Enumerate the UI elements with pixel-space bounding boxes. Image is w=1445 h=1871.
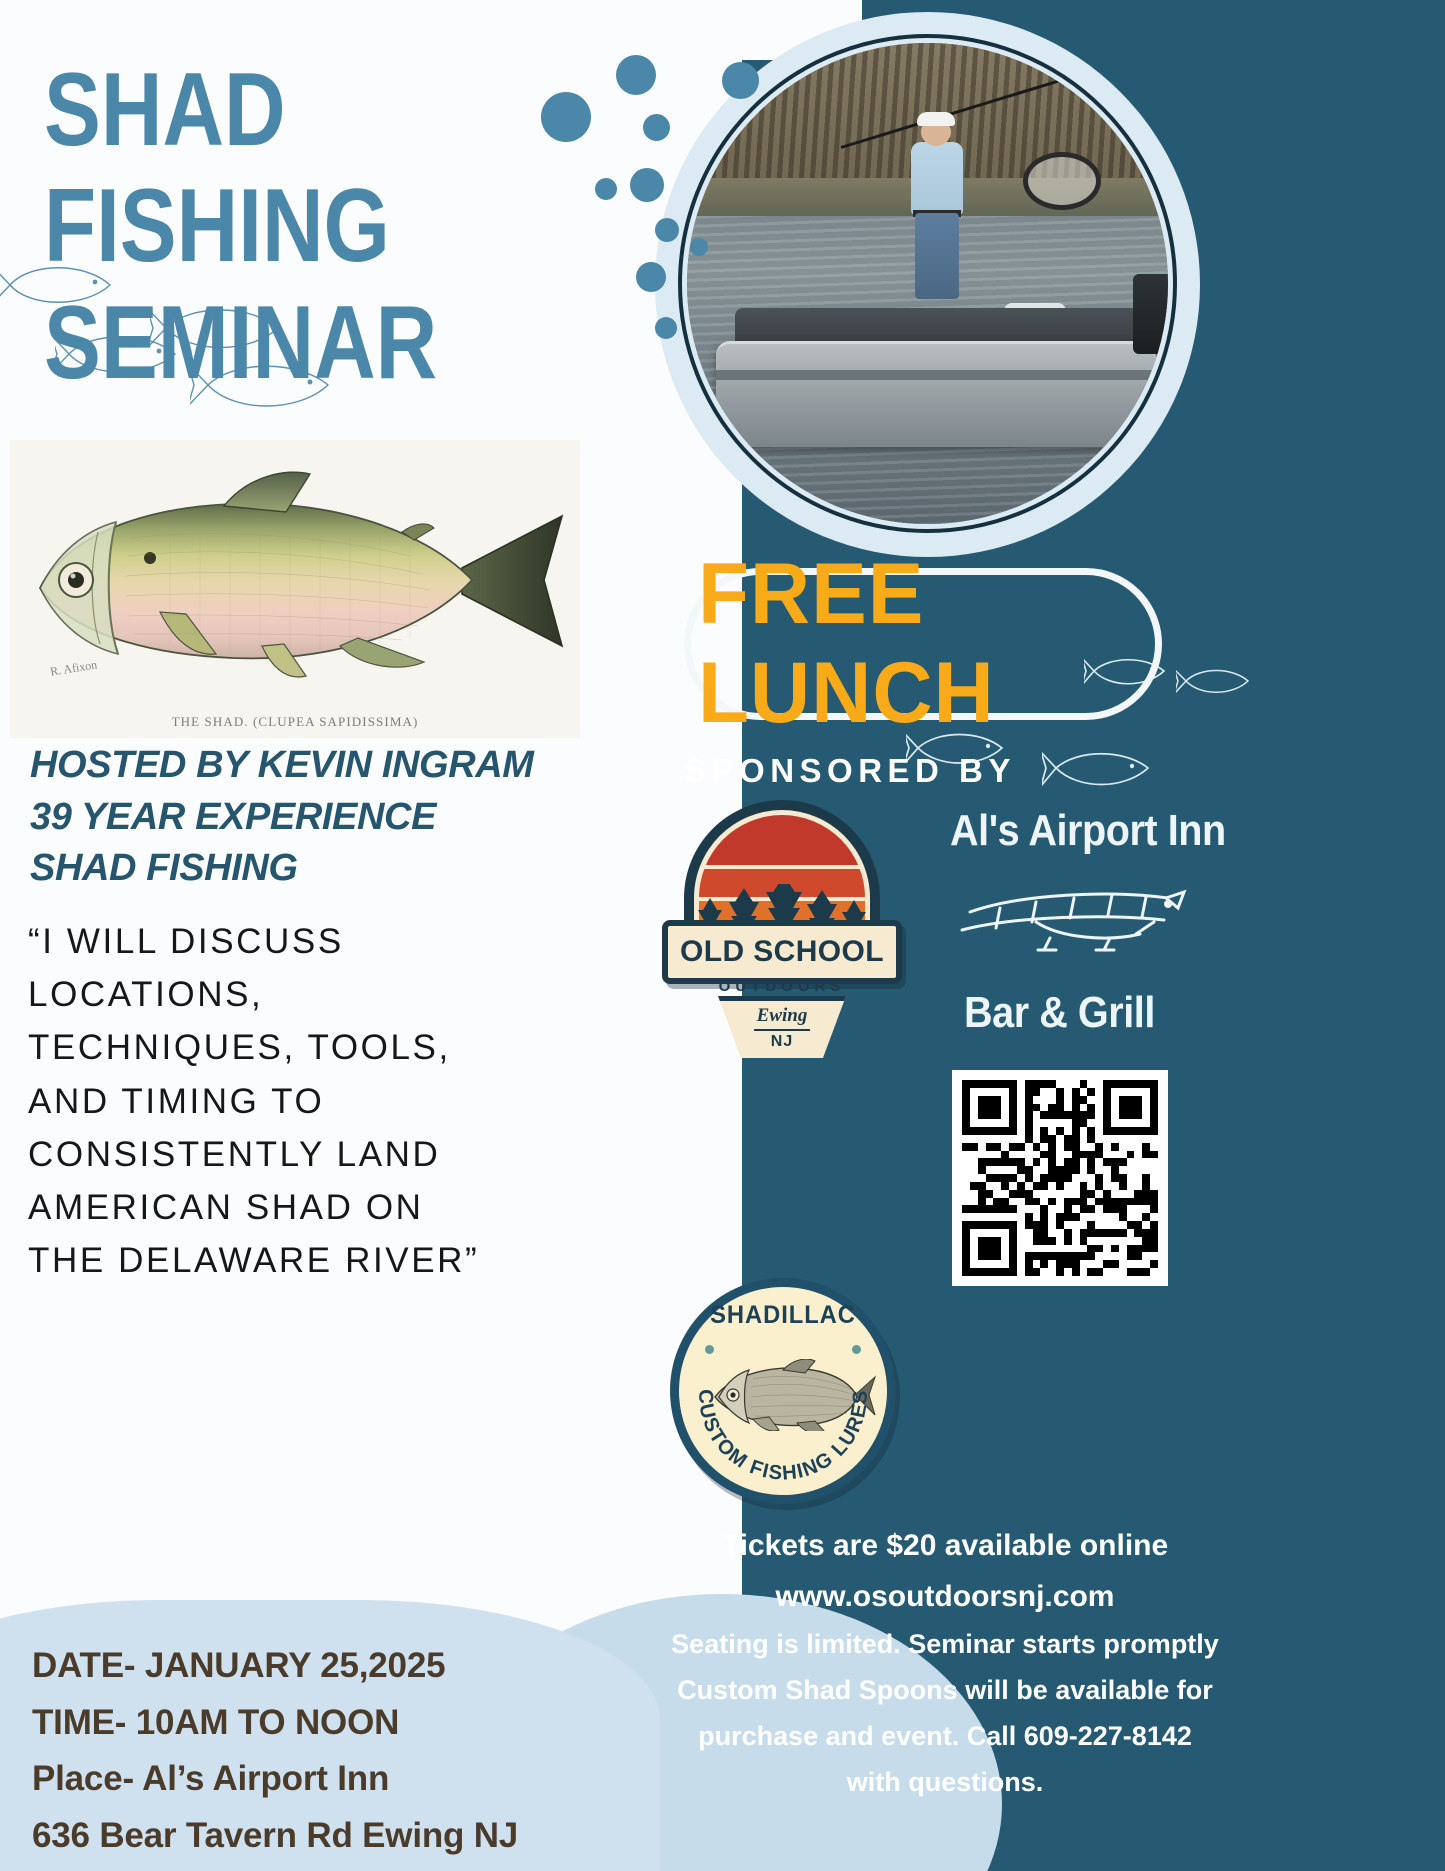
old-school-city: Ewing bbox=[718, 1005, 846, 1027]
footer-line-3: Seating is limited. Seminar starts promp… bbox=[650, 1622, 1240, 1668]
qr-code[interactable] bbox=[952, 1070, 1168, 1286]
footer-tickets: Tickets are $20 available online bbox=[650, 1520, 1240, 1571]
event-date: DATE- JANUARY 25,2025 bbox=[32, 1638, 692, 1695]
old-school-nameplate: OLD SCHOOL bbox=[662, 920, 902, 984]
quote-line: LOCATIONS, bbox=[28, 968, 668, 1021]
decorative-dot bbox=[541, 92, 591, 142]
decorative-dot bbox=[636, 262, 666, 292]
quote-line: AND TIMING TO bbox=[28, 1075, 668, 1128]
event-time: TIME- 10AM TO NOON bbox=[32, 1695, 692, 1752]
host-line-2: 39 YEAR EXPERIENCE bbox=[30, 792, 690, 844]
footer-line-4: Custom Shad Spoons will be available for bbox=[650, 1668, 1240, 1714]
svg-text:CUSTOM FISHING LURES: CUSTOM FISHING LURES bbox=[694, 1389, 872, 1485]
angler-cap bbox=[917, 112, 955, 126]
old-school-name: OLD SCHOOL bbox=[680, 935, 884, 969]
event-place: Place- Al’s Airport Inn bbox=[32, 1751, 692, 1808]
footer-text: Tickets are $20 available online www.oso… bbox=[650, 1520, 1240, 1806]
decorative-dot bbox=[655, 218, 679, 242]
free-lunch-label: FREE LUNCH bbox=[698, 575, 1148, 713]
host-line-1: HOSTED BY KEVIN INGRAM bbox=[30, 740, 690, 792]
shad-fish-illustration bbox=[10, 440, 580, 738]
sponsor-logo-old-school-outdoors: OLD SCHOOL OUTDOORS Ewing NJ bbox=[662, 800, 902, 1058]
event-details: DATE- JANUARY 25,2025 TIME- 10AM TO NOON… bbox=[32, 1638, 692, 1865]
sponsor-logo-shadillac: SHADILLAC CUSTOM FISHI bbox=[670, 1278, 896, 1504]
title-line-1: SHAD bbox=[44, 52, 569, 168]
poster-root: SHAD FISHING SEMINAR bbox=[0, 0, 1445, 1871]
free-lunch-badge: FREE LUNCH bbox=[684, 568, 1162, 720]
decorative-dot bbox=[616, 55, 656, 95]
quote-line: TECHNIQUES, TOOLS, bbox=[28, 1021, 668, 1074]
host-info: HOSTED BY KEVIN INGRAM 39 YEAR EXPERIENC… bbox=[30, 740, 690, 895]
quote-line: THE DELAWARE RIVER” bbox=[28, 1234, 668, 1287]
boat-hull bbox=[716, 341, 1159, 447]
sponsor-logo-als-airport-inn: Al's Airport Inn Bar & Grill bbox=[950, 806, 1200, 856]
speaker-quote: “I WILL DISCUSS LOCATIONS, TECHNIQUES, T… bbox=[28, 915, 668, 1287]
decorative-dot bbox=[655, 317, 677, 339]
quote-line: “I WILL DISCUSS bbox=[28, 915, 668, 968]
line-fish-icon bbox=[1176, 660, 1256, 702]
decorative-dot bbox=[690, 238, 708, 256]
boat-stripe bbox=[716, 370, 1159, 380]
footer-line-6: with questions. bbox=[650, 1760, 1240, 1806]
decorative-dot bbox=[595, 178, 617, 200]
quote-line: AMERICAN SHAD ON bbox=[28, 1181, 668, 1234]
old-school-subtitle: OUTDOORS bbox=[662, 978, 902, 995]
quote-line: CONSISTENTLY LAND bbox=[28, 1128, 668, 1181]
photo-image bbox=[687, 43, 1168, 524]
outboard-motor-icon bbox=[1133, 274, 1168, 354]
page-title: SHAD FISHING SEMINAR bbox=[44, 52, 569, 401]
event-address: 636 Bear Tavern Rd Ewing NJ bbox=[32, 1808, 692, 1865]
shad-illustration-plate: R. Afixon THE SHAD. (CLUPEA SAPIDISSIMA) bbox=[10, 440, 580, 738]
host-line-3: SHAD FISHING bbox=[30, 843, 690, 895]
angler-shirt bbox=[911, 142, 963, 216]
title-line-2: FISHING bbox=[44, 168, 569, 284]
title-line-3: SEMINAR bbox=[44, 285, 569, 401]
decorative-dot bbox=[722, 62, 759, 99]
old-school-state: NJ bbox=[754, 1029, 810, 1051]
angler-pants bbox=[915, 213, 959, 299]
als-line-1: Al's Airport Inn bbox=[950, 806, 1175, 856]
biplane-icon bbox=[940, 864, 1190, 969]
old-school-location-ribbon: Ewing NJ bbox=[718, 996, 846, 1058]
footer-website[interactable]: www.osoutdoorsnj.com bbox=[650, 1571, 1240, 1622]
shadillac-tagline: CUSTOM FISHING LURES bbox=[679, 1287, 887, 1495]
illustration-caption: THE SHAD. (CLUPEA SAPIDISSIMA) bbox=[10, 714, 580, 730]
als-line-2: Bar & Grill bbox=[964, 988, 1155, 1038]
footer-line-5: purchase and event. Call 609-227-8142 bbox=[650, 1714, 1240, 1760]
qr-code-grid bbox=[962, 1080, 1158, 1276]
decorative-dot bbox=[643, 114, 670, 141]
decorative-dot bbox=[630, 168, 664, 202]
sponsored-by-label: SPONSORED BY bbox=[684, 752, 1104, 790]
